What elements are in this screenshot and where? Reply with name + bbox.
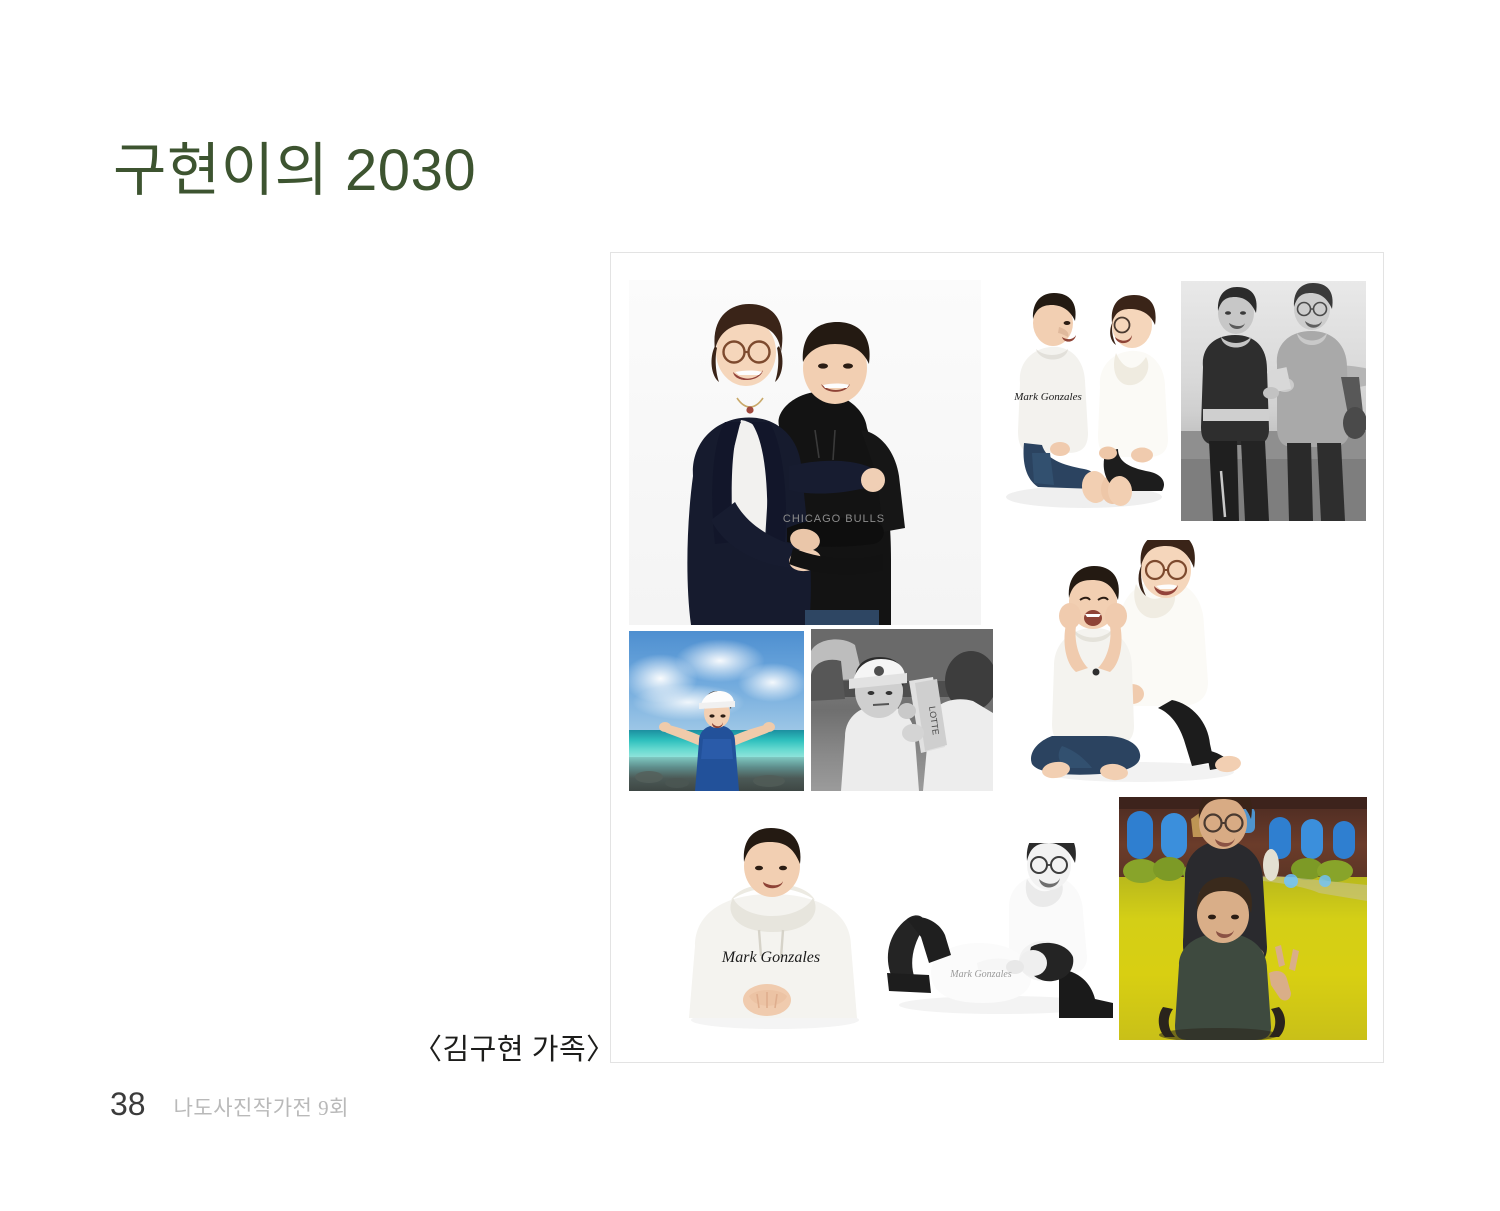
photo-bw-stadium-art: LOTTE <box>811 629 993 791</box>
photo-bw-hiking <box>1181 281 1366 521</box>
photo-collage-frame: CHICAGO BULLS <box>610 252 1384 1063</box>
page-number: 38 <box>110 1086 146 1123</box>
page-title: 구현이의 2030 <box>113 139 476 203</box>
photo-garden-night <box>1119 797 1367 1040</box>
svg-text:Mark Gonzales: Mark Gonzales <box>721 949 820 966</box>
photo-barefoot-pair-art: Mark Gonzales <box>996 283 1171 518</box>
collage-caption: 〈김구현 가족〉 <box>413 1026 616 1068</box>
photo-bw-hiking-art <box>1181 281 1366 521</box>
photo-bw-lap-art: Mark Gonzales <box>873 843 1113 1018</box>
photo-barefoot-pair: Mark Gonzales <box>996 283 1171 518</box>
page-footer: 38 나도사진작가전 9회 <box>110 1086 349 1123</box>
publication-label: 나도사진작가전 9회 <box>174 1092 349 1122</box>
photo-beach-art <box>629 631 804 791</box>
photo-beach <box>629 631 804 791</box>
photo-bw-stadium: LOTTE <box>811 629 993 791</box>
photo-garden-night-art <box>1119 797 1367 1040</box>
photo-hug-laugh-art <box>996 540 1274 790</box>
photo-bw-lap: Mark Gonzales <box>873 843 1113 1018</box>
svg-text:Mark Gonzales: Mark Gonzales <box>949 969 1011 980</box>
svg-text:Mark Gonzales: Mark Gonzales <box>1013 391 1082 403</box>
photo-solo-hoodie: Mark Gonzales <box>671 828 879 1033</box>
svg-text:CHICAGO BULLS: CHICAGO BULLS <box>783 513 885 525</box>
photo-solo-hoodie-art: Mark Gonzales <box>671 828 879 1033</box>
photo-collage: CHICAGO BULLS <box>611 253 1383 1062</box>
photo-studio-mother-son: CHICAGO BULLS <box>629 280 981 625</box>
photo-hug-laugh <box>996 540 1274 790</box>
photo-studio-mother-son-art: CHICAGO BULLS <box>629 280 981 625</box>
